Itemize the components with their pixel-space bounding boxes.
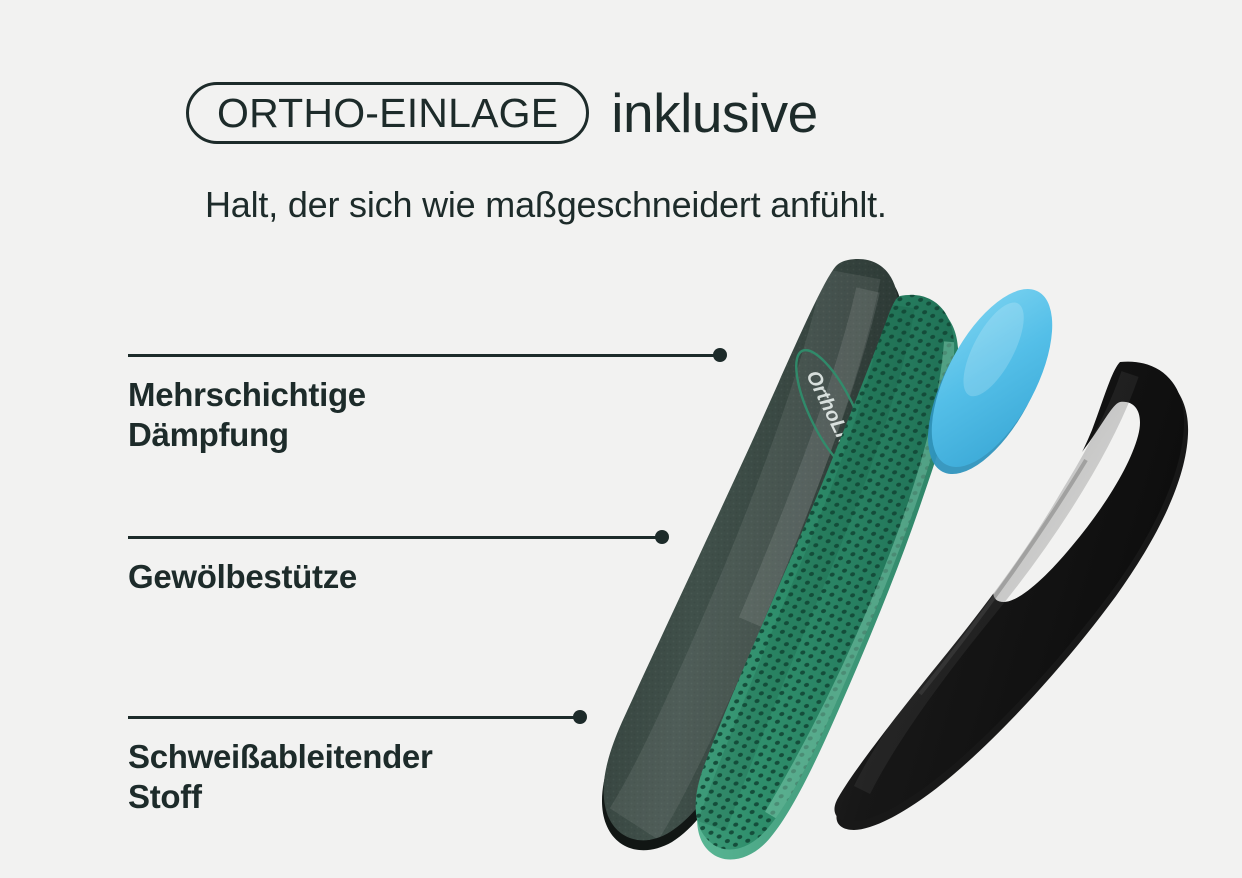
connector-line-1 xyxy=(128,530,357,544)
connector-line-0 xyxy=(128,348,366,362)
ortho-einlage-badge: ORTHO-EINLAGE xyxy=(186,82,589,144)
feature-label-2: Schweißableitender Stoff xyxy=(128,737,433,818)
connector-dot-icon xyxy=(573,710,587,724)
connector-rule xyxy=(128,716,580,719)
feature-label-1: Gewölbestütze xyxy=(128,557,357,597)
promo-banner: ORTHO-EINLAGE inklusive Halt, der sich w… xyxy=(0,0,1242,878)
headline: ORTHO-EINLAGE inklusive xyxy=(186,82,818,144)
insole-product-image: OrthoLite xyxy=(600,250,1242,878)
feature-item-1: Gewölbestütze xyxy=(128,530,357,597)
connector-line-2 xyxy=(128,710,433,724)
feature-item-0: Mehrschichtige Dämpfung xyxy=(128,348,366,456)
feature-label-0: Mehrschichtige Dämpfung xyxy=(128,375,366,456)
headline-suffix: inklusive xyxy=(611,86,817,141)
subtitle: Halt, der sich wie maßgeschneidert anfüh… xyxy=(205,184,887,226)
connector-rule xyxy=(128,536,662,539)
badge-label: ORTHO-EINLAGE xyxy=(217,93,558,134)
feature-item-2: Schweißableitender Stoff xyxy=(128,710,433,818)
insole-illustration: OrthoLite xyxy=(600,250,1242,878)
